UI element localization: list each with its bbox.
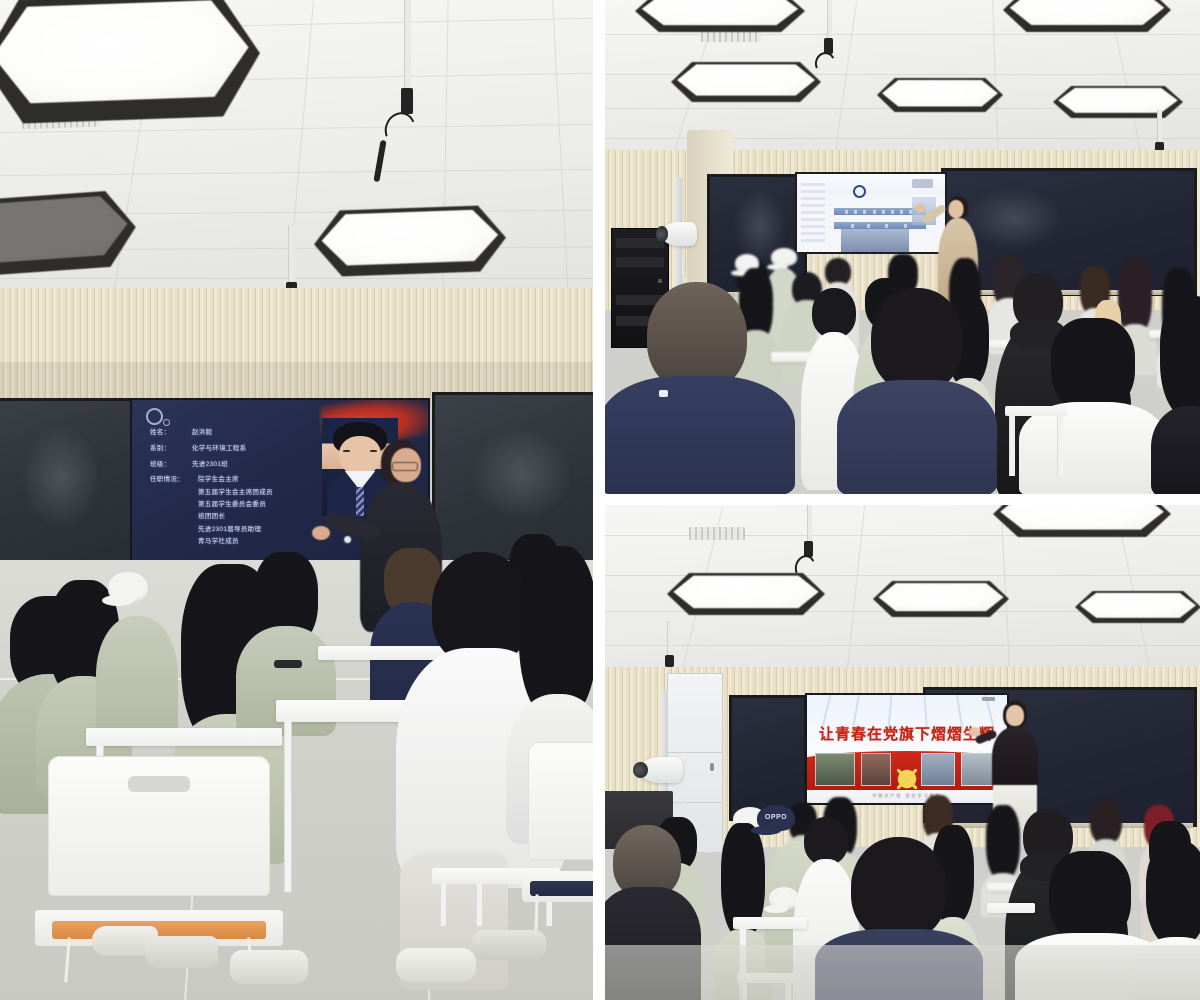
audience-member-front-left bbox=[605, 282, 795, 494]
shoe bbox=[146, 936, 218, 968]
ceiling-light-panel bbox=[671, 62, 821, 102]
chair-legs bbox=[535, 894, 593, 932]
blackboard-left bbox=[0, 398, 138, 578]
slide-text-block: 姓名： 赵洪毅 系别： 化学与环境工程系 班级： 先进2301班 任职情况： 院… bbox=[150, 430, 330, 560]
person-hair-long bbox=[1160, 296, 1200, 418]
slide-field-value: 先进2301班 bbox=[192, 462, 330, 469]
slide-role-item: 院学生会主席 bbox=[198, 477, 330, 484]
person-face bbox=[1006, 705, 1024, 726]
ceiling-light-panel bbox=[1075, 591, 1200, 623]
person-shirt bbox=[1151, 406, 1200, 494]
slide-role-item: 第五届学生委员会委员 bbox=[198, 502, 330, 509]
ceiling-light-panel bbox=[0, 0, 262, 125]
slide-field-key: 班级： bbox=[150, 462, 192, 469]
slide-field-value: 化学与环境工程系 bbox=[192, 446, 330, 453]
slide-photo bbox=[861, 753, 891, 785]
party-emblem-icon bbox=[894, 766, 920, 792]
smartphone-on-table bbox=[274, 660, 302, 668]
student bbox=[96, 594, 178, 744]
chair-handle-slot bbox=[128, 776, 190, 792]
slide-field-department: 系别： 化学与环境工程系 bbox=[150, 446, 330, 453]
ceiling bbox=[605, 505, 1200, 679]
shoe bbox=[396, 948, 476, 982]
speaker-bracket bbox=[665, 655, 674, 667]
ceiling-light-panel bbox=[667, 573, 825, 615]
slide-role-item: 青马学社成员 bbox=[198, 539, 330, 546]
slide-photo bbox=[815, 753, 855, 785]
person-hand bbox=[969, 727, 980, 737]
person-hair-long bbox=[1146, 841, 1200, 947]
interactive-whiteboard-display[interactable] bbox=[795, 172, 947, 254]
shoe bbox=[472, 930, 546, 960]
audience-table bbox=[733, 917, 807, 929]
eyeglasses bbox=[392, 462, 418, 471]
ceiling bbox=[0, 0, 593, 300]
cap-logo-text: OPPO bbox=[765, 814, 787, 821]
ceiling-light-panel bbox=[1053, 86, 1183, 118]
person-face bbox=[949, 200, 964, 218]
slide-role-item: 班团团长 bbox=[198, 514, 330, 521]
slide-role-item: 第五届学生会主席团成员 bbox=[198, 490, 330, 497]
student-table bbox=[86, 728, 282, 746]
ceiling-light-panel bbox=[873, 581, 1009, 617]
ceiling-light-panel bbox=[993, 505, 1171, 537]
projector-hanger-rod bbox=[404, 0, 411, 92]
slat-wall-upper bbox=[0, 288, 593, 366]
projector-mount-block bbox=[401, 88, 413, 114]
floor bbox=[605, 945, 1200, 1000]
slide-roles-list: 院学生会主席 第五届学生会主席团成员 第五届学生委员会委员 班团团长 先进230… bbox=[198, 477, 330, 551]
student bbox=[236, 552, 336, 722]
ceiling-light-panel bbox=[1003, 0, 1171, 32]
chair-back bbox=[528, 742, 593, 860]
webpage-photo bbox=[841, 229, 909, 252]
webpage-sidebar-tiles bbox=[801, 183, 825, 244]
person-hand bbox=[915, 204, 926, 213]
chair bbox=[528, 742, 593, 932]
webpage-button[interactable] bbox=[912, 179, 933, 188]
ceiling-light-panel bbox=[877, 78, 1003, 112]
shoe bbox=[230, 950, 308, 984]
cabinet-handle[interactable] bbox=[710, 763, 714, 771]
slide-field-name: 姓名： 赵洪毅 bbox=[150, 430, 330, 437]
slide-field-key: 系别： bbox=[150, 446, 192, 453]
decorative-circle-small bbox=[163, 419, 170, 426]
audience-member-front-center bbox=[837, 288, 997, 494]
projection-slide: 让青春在党旗下熠熠生辉 中国共产党 党史学习教育 bbox=[805, 693, 1009, 805]
left-photo-classroom-presentation: 姓名： 赵洪毅 系别： 化学与环境工程系 班级： 先进2301班 任职情况： 院… bbox=[0, 0, 593, 1000]
person-shirt-navy bbox=[605, 376, 795, 494]
air-vent bbox=[689, 527, 745, 540]
white-cap bbox=[771, 248, 797, 266]
projector-hanger-rod bbox=[827, 0, 832, 42]
slide-role-item: 先进2301届导员助理 bbox=[198, 527, 330, 534]
ceiling-light-panel bbox=[635, 0, 805, 32]
camera-lens bbox=[633, 762, 648, 779]
slide-field-value: 赵洪毅 bbox=[192, 430, 330, 437]
webpage-logo bbox=[853, 185, 866, 198]
audience-table bbox=[987, 903, 1035, 913]
bottom-right-photo-party-lecture: 让青春在党旗下熠熠生辉 中国共产党 党史学习教育 bbox=[605, 505, 1200, 1000]
shirt-logo bbox=[659, 390, 668, 397]
camera-lens bbox=[656, 226, 668, 241]
slide-roles-label: 任职情况： bbox=[150, 477, 198, 551]
person-head bbox=[871, 288, 963, 392]
person-top-dark bbox=[992, 727, 1038, 791]
slide-field-key: 姓名： bbox=[150, 430, 192, 437]
ceiling-light-panel bbox=[0, 189, 138, 279]
ceiling-light-panel bbox=[313, 205, 507, 278]
lecture-camera bbox=[639, 757, 683, 783]
lecture-camera bbox=[661, 222, 697, 246]
projector-hanger-rod bbox=[807, 505, 812, 545]
slide-photo bbox=[921, 753, 955, 785]
audience-member bbox=[1151, 296, 1200, 494]
slide-field-class: 班级： 先进2301班 bbox=[150, 462, 330, 469]
photo-collage: 姓名： 赵洪毅 系别： 化学与环境工程系 班级： 先进2301班 任职情况： 院… bbox=[0, 0, 1200, 1000]
top-right-photo-lecture-audience bbox=[605, 0, 1200, 494]
person-shirt-navy bbox=[837, 380, 997, 494]
stool bbox=[1005, 406, 1067, 416]
person-shirt bbox=[96, 616, 178, 744]
slide-field-roles: 任职情况： 院学生会主席 第五届学生会主席团成员 第五届学生委员会委员 班团团长… bbox=[150, 477, 330, 551]
person-head bbox=[851, 837, 947, 941]
person-hand bbox=[312, 526, 330, 540]
decorative-circle bbox=[146, 408, 163, 425]
